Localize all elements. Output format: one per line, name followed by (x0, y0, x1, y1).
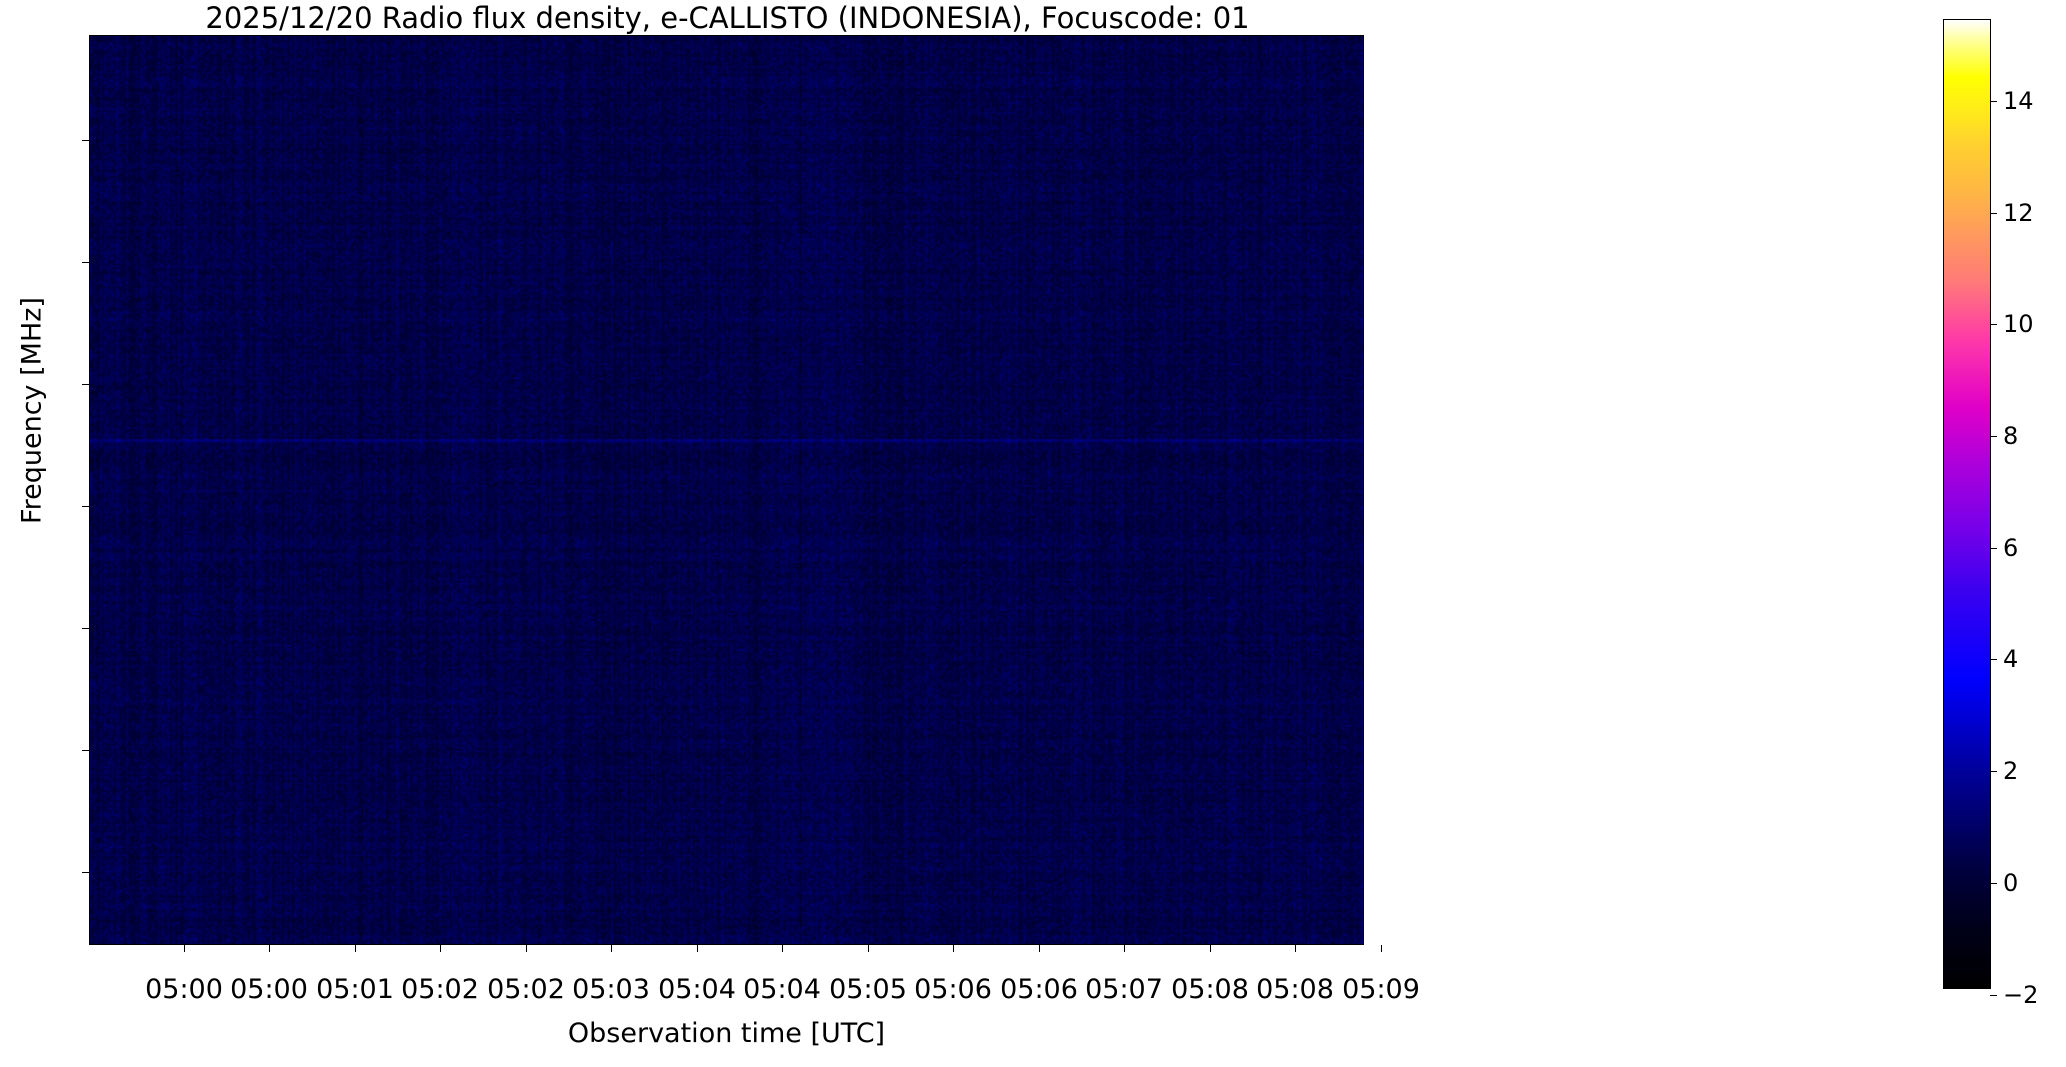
x-tick-mark (184, 945, 185, 952)
x-tick-mark (1039, 945, 1040, 952)
colorbar-tick-label: −2 (2003, 983, 2038, 1007)
colorbar-axis: 14121086420−2 (1943, 0, 2063, 1067)
colorbar-tick-mark (1990, 213, 1997, 214)
colorbar-tick-mark (1990, 548, 1997, 549)
x-axis-label: Observation time [UTC] (89, 1018, 1364, 1049)
colorbar-tick-label: 12 (2003, 201, 2034, 225)
x-tick-mark (526, 945, 527, 952)
x-tick-mark (953, 945, 954, 952)
colorbar-tick-mark (1990, 436, 1997, 437)
x-tick-mark (782, 945, 783, 952)
x-tick-mark (1295, 945, 1296, 952)
colorbar-tick-mark (1990, 659, 1997, 660)
colorbar-tick-mark (1990, 324, 1997, 325)
x-tick-mark (440, 945, 441, 952)
colorbar-tick-label: 6 (2003, 536, 2018, 560)
colorbar-tick-label: 8 (2003, 424, 2018, 448)
x-tick-mark (1210, 945, 1211, 952)
x-axis: 05:0005:0005:0105:0205:0205:0305:0405:04… (0, 0, 2066, 1067)
colorbar-tick-label: 2 (2003, 759, 2018, 783)
colorbar-tick-mark (1990, 101, 1997, 102)
x-tick-mark (1381, 945, 1382, 952)
colorbar-tick-mark (1990, 995, 1997, 996)
colorbar-tick-label: 14 (2003, 89, 2034, 113)
x-tick-mark (611, 945, 612, 952)
x-tick-mark (355, 945, 356, 952)
x-tick-mark (697, 945, 698, 952)
colorbar-tick-label: 0 (2003, 871, 2018, 895)
colorbar-tick-label: 4 (2003, 647, 2018, 671)
colorbar-tick-mark (1990, 771, 1997, 772)
colorbar-tick-label: 10 (2003, 312, 2034, 336)
colorbar-tick-mark (1990, 883, 1997, 884)
x-tick-mark (868, 945, 869, 952)
x-tick-label: 05:09 (1301, 975, 1461, 1005)
x-tick-mark (269, 945, 270, 952)
x-tick-mark (1124, 945, 1125, 952)
